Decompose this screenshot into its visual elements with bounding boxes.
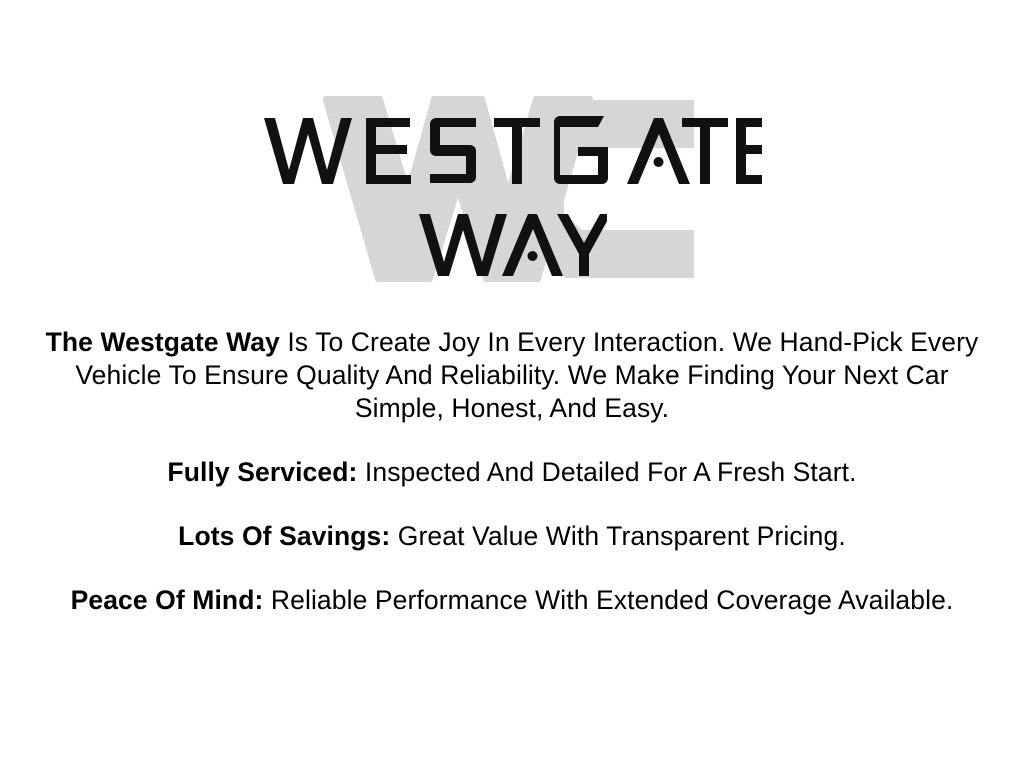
paragraph-peace-of-mind-rest: Reliable Performance With Extended Cover…	[263, 585, 953, 615]
paragraph-intro-lead: The Westgate Way	[46, 327, 280, 357]
paragraph-fully-serviced-lead: Fully Serviced:	[167, 457, 357, 487]
paragraph-fully-serviced: Fully Serviced: Inspected And Detailed F…	[17, 456, 1007, 489]
paragraph-intro: The Westgate Way Is To Create Joy In Eve…	[42, 326, 982, 425]
paragraph-fully-serviced-rest: Inspected And Detailed For A Fresh Start…	[357, 457, 856, 487]
brand-logo	[0, 96, 1024, 292]
paragraph-peace-of-mind: Peace Of Mind: Reliable Performance With…	[17, 584, 1007, 617]
paragraph-lots-of-savings-lead: Lots Of Savings:	[178, 521, 390, 551]
slide-canvas: The Westgate Way Is To Create Joy In Eve…	[0, 0, 1024, 768]
body-copy: The Westgate Way Is To Create Joy In Eve…	[17, 326, 1007, 617]
paragraph-lots-of-savings: Lots Of Savings: Great Value With Transp…	[17, 520, 1007, 553]
brand-wordmark-line-way	[0, 208, 1024, 282]
brand-wordmark	[0, 96, 1024, 282]
paragraph-peace-of-mind-lead: Peace Of Mind:	[71, 585, 264, 615]
paragraph-lots-of-savings-rest: Great Value With Transparent Pricing.	[390, 521, 845, 551]
brand-wordmark-line-westgate	[0, 96, 1024, 208]
